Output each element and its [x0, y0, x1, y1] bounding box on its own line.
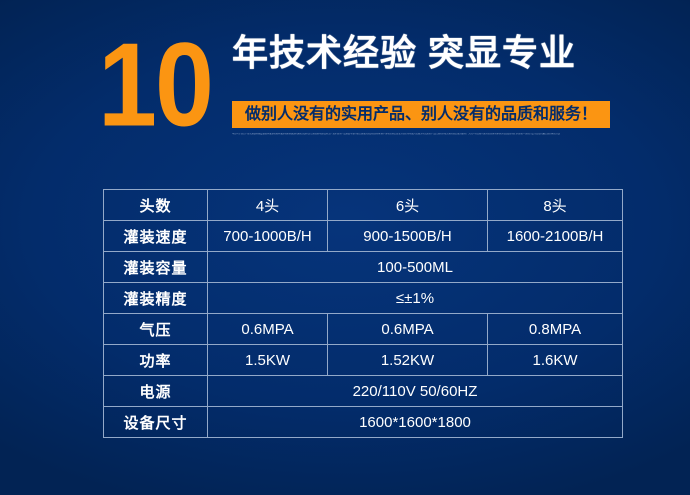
cell-value: 6头 — [328, 190, 488, 221]
table-row: 灌装精度 ≤±1% — [104, 283, 623, 314]
row-label: 功率 — [104, 345, 208, 376]
table-row: 设备尺寸 1600*1600*1800 — [104, 407, 623, 438]
table-row: 灌装速度 700-1000B/H 900-1500B/H 1600-2100B/… — [104, 221, 623, 252]
row-label: 气压 — [104, 314, 208, 345]
cell-value: 1.6KW — [488, 345, 623, 376]
cell-value-merged: 100-500ML — [208, 252, 623, 283]
decorative-microtext: 本公司专业生产各类灌装机械设备液体灌装机膏体灌装机粉末灌装机颗粒包装机封口机贴标… — [232, 133, 610, 149]
table-row: 功率 1.5KW 1.52KW 1.6KW — [104, 345, 623, 376]
subtitle-text: 做别人没有的实用产品、别人没有的品质和服务！ — [245, 107, 597, 123]
table-row: 头数 4头 6头 8头 — [104, 190, 623, 221]
cell-value: 1.52KW — [328, 345, 488, 376]
row-label: 头数 — [104, 190, 208, 221]
cell-value: 0.6MPA — [328, 314, 488, 345]
table-row: 电源 220/110V 50/60HZ — [104, 376, 623, 407]
specification-table: 头数 4头 6头 8头 灌装速度 700-1000B/H 900-1500B/H… — [103, 189, 623, 438]
headline-text: 年技术经验 突显专业 — [232, 31, 576, 75]
cell-value-merged: ≤±1% — [208, 283, 623, 314]
cell-value: 700-1000B/H — [208, 221, 328, 252]
header-banner: 10 年技术经验 突显专业 做别人没有的实用产品、别人没有的品质和服务！ 本公司… — [0, 18, 690, 143]
years-number: 10 — [98, 26, 212, 145]
cell-value-merged: 220/110V 50/60HZ — [208, 376, 623, 407]
cell-value-merged: 1600*1600*1800 — [208, 407, 623, 438]
row-label: 设备尺寸 — [104, 407, 208, 438]
table-row: 气压 0.6MPA 0.6MPA 0.8MPA — [104, 314, 623, 345]
cell-value: 8头 — [488, 190, 623, 221]
row-label: 电源 — [104, 376, 208, 407]
cell-value: 1600-2100B/H — [488, 221, 623, 252]
cell-value: 0.8MPA — [488, 314, 623, 345]
subtitle-bar: 做别人没有的实用产品、别人没有的品质和服务！ — [232, 101, 610, 128]
poster-background: 10 年技术经验 突显专业 做别人没有的实用产品、别人没有的品质和服务！ 本公司… — [0, 0, 690, 495]
row-label: 灌装速度 — [104, 221, 208, 252]
cell-value: 1.5KW — [208, 345, 328, 376]
cell-value: 4头 — [208, 190, 328, 221]
cell-value: 0.6MPA — [208, 314, 328, 345]
cell-value: 900-1500B/H — [328, 221, 488, 252]
table-row: 灌装容量 100-500ML — [104, 252, 623, 283]
row-label: 灌装精度 — [104, 283, 208, 314]
row-label: 灌装容量 — [104, 252, 208, 283]
